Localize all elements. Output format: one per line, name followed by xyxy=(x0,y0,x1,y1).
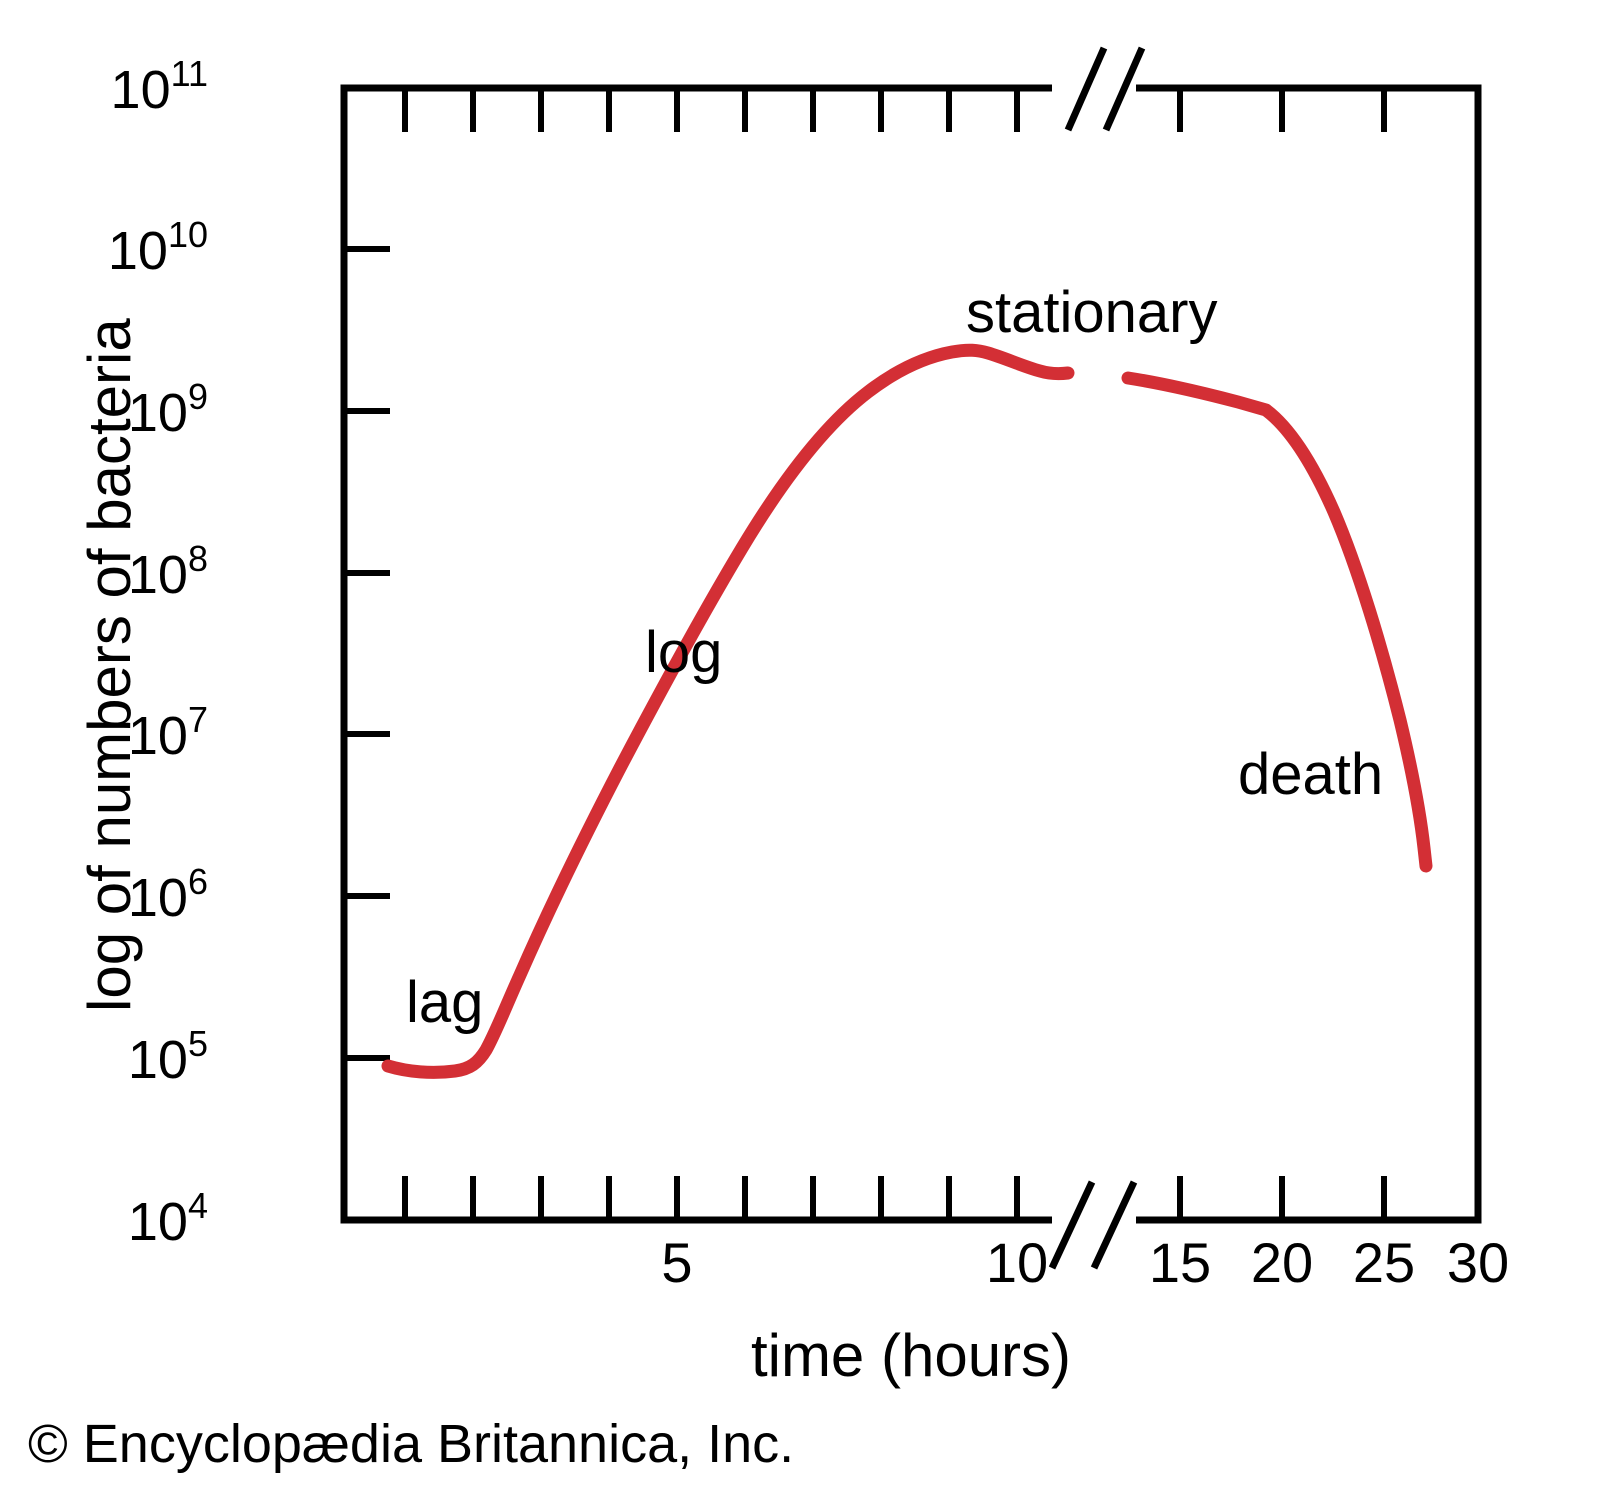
phase-annotations: lag log stationary death xyxy=(406,280,1383,1035)
x-tick-label-5: 5 xyxy=(661,1231,692,1294)
y-tick-label-10e11: 1011 xyxy=(111,53,208,120)
x-axis-title: time (hours) xyxy=(751,1322,1071,1389)
y-axis-title: log of numbers of bacteria xyxy=(76,318,143,1012)
phase-label-lag: lag xyxy=(406,970,483,1035)
x-axis-ticks-bottom xyxy=(405,1176,1384,1220)
y-axis-ticks xyxy=(344,249,390,1220)
copyright-credit: © Encyclopædia Britannica, Inc. xyxy=(28,1414,794,1474)
x-tick-label-25: 25 xyxy=(1353,1231,1415,1294)
phase-label-death: death xyxy=(1238,742,1383,807)
x-tick-label-30: 30 xyxy=(1447,1231,1509,1294)
x-tick-label-20: 20 xyxy=(1251,1231,1313,1294)
x-axis-ticks-top xyxy=(405,88,1384,132)
axis-break-top xyxy=(1052,48,1142,130)
figure-page: 104 105 106 107 108 109 1010 1011 xyxy=(0,0,1600,1500)
bacterial-growth-curve-chart: 104 105 106 107 108 109 1010 1011 xyxy=(0,0,1600,1500)
y-tick-label-10e4: 104 xyxy=(128,1185,208,1252)
x-tick-label-15: 15 xyxy=(1149,1231,1211,1294)
x-axis-tick-labels: 5 10 15 20 25 30 xyxy=(661,1231,1509,1294)
phase-label-log: log xyxy=(645,620,722,685)
curve-segment-growth xyxy=(388,350,1068,1072)
y-tick-label-10e5: 105 xyxy=(128,1023,208,1090)
y-tick-label-10e10: 1010 xyxy=(108,214,208,281)
axis-break-bottom xyxy=(1052,1182,1136,1268)
plot-frame xyxy=(344,88,1478,1220)
phase-label-stationary: stationary xyxy=(966,280,1217,345)
growth-curve-group xyxy=(388,350,1426,1072)
x-tick-label-10: 10 xyxy=(986,1231,1048,1294)
